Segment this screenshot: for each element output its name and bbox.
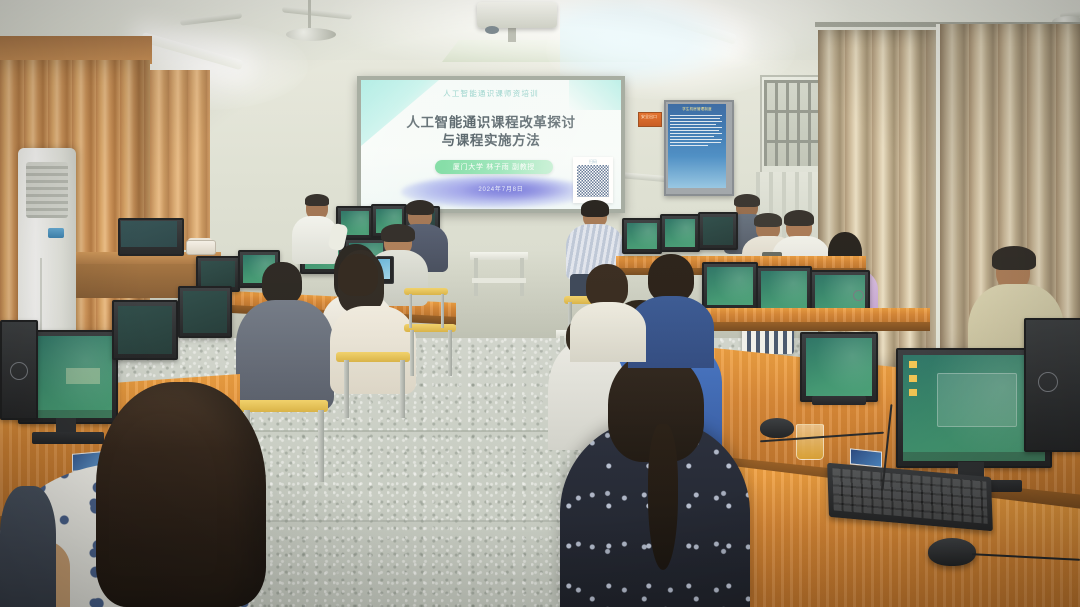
monitor	[702, 262, 758, 310]
mouse[interactable]	[760, 418, 794, 438]
taskbar	[903, 452, 1045, 461]
exit-sign-label: 安全出口	[638, 114, 660, 120]
air-conditioner-display	[48, 228, 64, 238]
person-torso	[236, 300, 334, 410]
dell-logo-icon	[1038, 372, 1058, 392]
air-conditioner-vent	[26, 162, 68, 218]
person-hair	[406, 200, 434, 215]
monitor	[800, 332, 878, 402]
classroom-photo: 学生机房管理制度 安全出口 人工智能通识课师资培训 人工智能通识课程改革探讨 与…	[0, 0, 1080, 607]
side-table-leg	[520, 258, 524, 296]
notice-board-text	[670, 113, 724, 173]
stool-leg	[441, 294, 444, 328]
monitor-screen	[806, 338, 872, 396]
desktop-icon	[909, 389, 917, 396]
screen-glare	[361, 80, 621, 209]
projector-mount	[508, 26, 516, 42]
monitor	[178, 286, 232, 338]
monitor-screen	[627, 223, 657, 249]
blue-sticker-card	[850, 448, 882, 467]
monitor	[622, 218, 662, 254]
monitor-screen	[703, 217, 733, 245]
stool-leg	[400, 360, 405, 418]
instructor-hair	[305, 194, 329, 206]
monitor-screen	[761, 271, 807, 311]
projector-lens	[485, 26, 499, 34]
monitor-dell-right-back	[1024, 318, 1080, 452]
desktop-dialog	[937, 373, 1017, 427]
desk-telephone	[186, 240, 216, 255]
side-table-shelf	[472, 278, 526, 283]
person-hair	[381, 224, 415, 242]
stool-leg	[409, 294, 412, 328]
dell-logo-icon	[10, 362, 28, 380]
stool-leg	[344, 360, 349, 418]
monitor-dell-left-back	[0, 320, 38, 420]
desk-edge	[690, 322, 930, 331]
monitor-foot	[812, 396, 866, 405]
notice-board-title: 学生机房管理制度	[670, 107, 724, 112]
monitor-screen	[118, 306, 172, 354]
person-foreground-left-hair	[96, 382, 266, 607]
monitor	[112, 300, 178, 360]
projection-screen: 人工智能通识课师资培训 人工智能通识课程改革探讨 与课程实施方法 厦门大学 林子…	[361, 80, 621, 209]
stool-leg	[410, 330, 414, 376]
desktop-dialog	[66, 368, 100, 384]
person-hair	[734, 194, 760, 207]
person-hair	[754, 213, 782, 227]
person-head	[338, 254, 378, 296]
ceiling-fan-hub	[286, 28, 336, 41]
tea-glass	[796, 424, 824, 460]
person-partial-left	[0, 486, 56, 607]
monitor	[660, 214, 700, 252]
window-security-grill	[764, 80, 818, 166]
person-foreground-center-ponytail	[648, 424, 678, 570]
monitor-foot	[32, 432, 104, 444]
teacher-desk-monitor-screen	[121, 221, 177, 247]
mouse[interactable]	[928, 538, 976, 566]
stool-leg	[318, 410, 324, 482]
stool-leg	[448, 330, 452, 376]
monitor-screen	[665, 219, 695, 247]
side-table-leg	[474, 258, 478, 296]
person-hair	[992, 246, 1036, 270]
person-head	[648, 254, 694, 302]
monitor-screen	[201, 261, 235, 287]
dell-logo-icon	[853, 290, 864, 301]
desktop-icon	[909, 375, 917, 382]
person-head	[262, 262, 302, 304]
monitor-screen	[707, 267, 753, 305]
monitor	[698, 212, 738, 250]
person-hair	[784, 210, 814, 226]
desktop-icon	[909, 361, 917, 368]
person-hair	[581, 200, 609, 217]
monitor-screen	[183, 291, 227, 333]
person-torso	[570, 302, 646, 362]
ceiling-projector	[477, 2, 557, 28]
ceiling-fan-pole	[308, 0, 311, 28]
